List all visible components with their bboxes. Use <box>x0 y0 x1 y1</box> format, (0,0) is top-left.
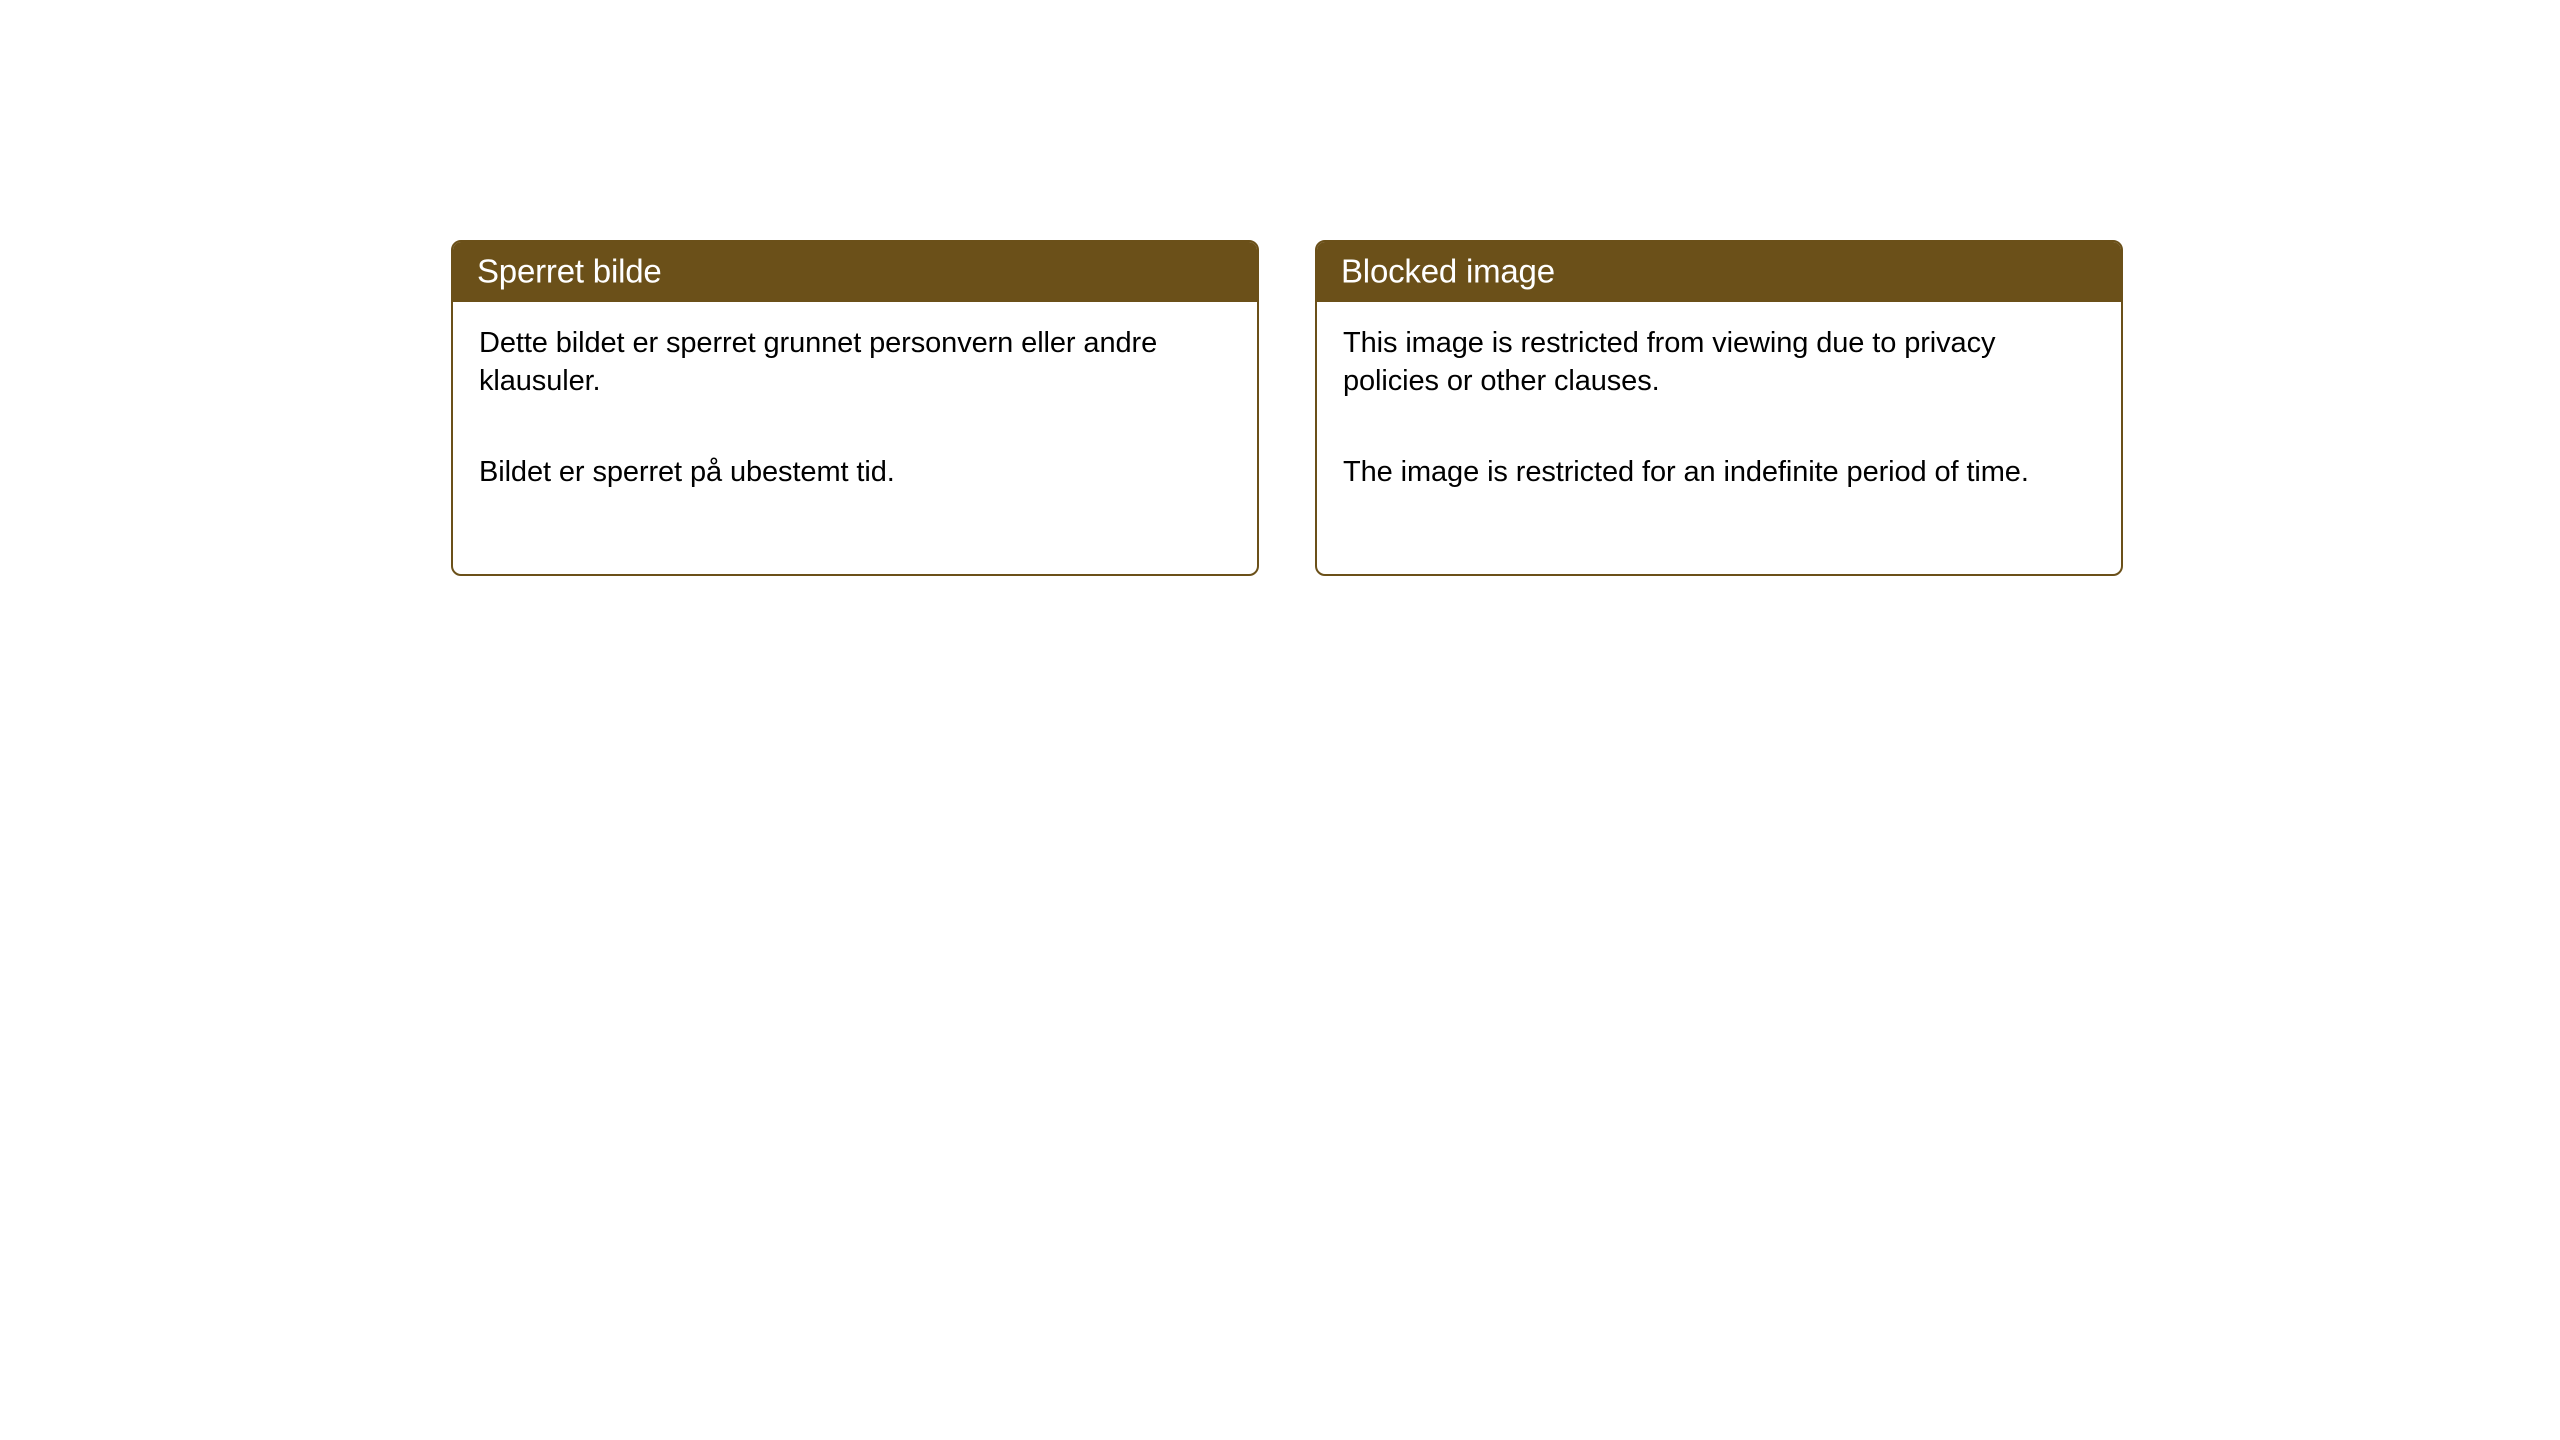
blocked-image-notice-card-norwegian: Sperret bilde Dette bildet er sperret gr… <box>451 240 1259 576</box>
card-header-bar: Blocked image <box>1315 240 2123 302</box>
card-paragraph-reason: Dette bildet er sperret grunnet personve… <box>479 324 1231 401</box>
card-body: Dette bildet er sperret grunnet personve… <box>453 302 1257 574</box>
card-body: This image is restricted from viewing du… <box>1317 302 2121 574</box>
card-header-bar: Sperret bilde <box>451 240 1259 302</box>
page-canvas: Sperret bilde Dette bildet er sperret gr… <box>0 0 2560 1440</box>
card-title: Blocked image <box>1341 255 1555 288</box>
card-paragraph-duration: Bildet er sperret på ubestemt tid. <box>479 453 1231 491</box>
card-title: Sperret bilde <box>477 255 662 288</box>
card-paragraph-duration: The image is restricted for an indefinit… <box>1343 453 2095 491</box>
card-paragraph-reason: This image is restricted from viewing du… <box>1343 324 2095 401</box>
blocked-image-notice-card-english: Blocked image This image is restricted f… <box>1315 240 2123 576</box>
